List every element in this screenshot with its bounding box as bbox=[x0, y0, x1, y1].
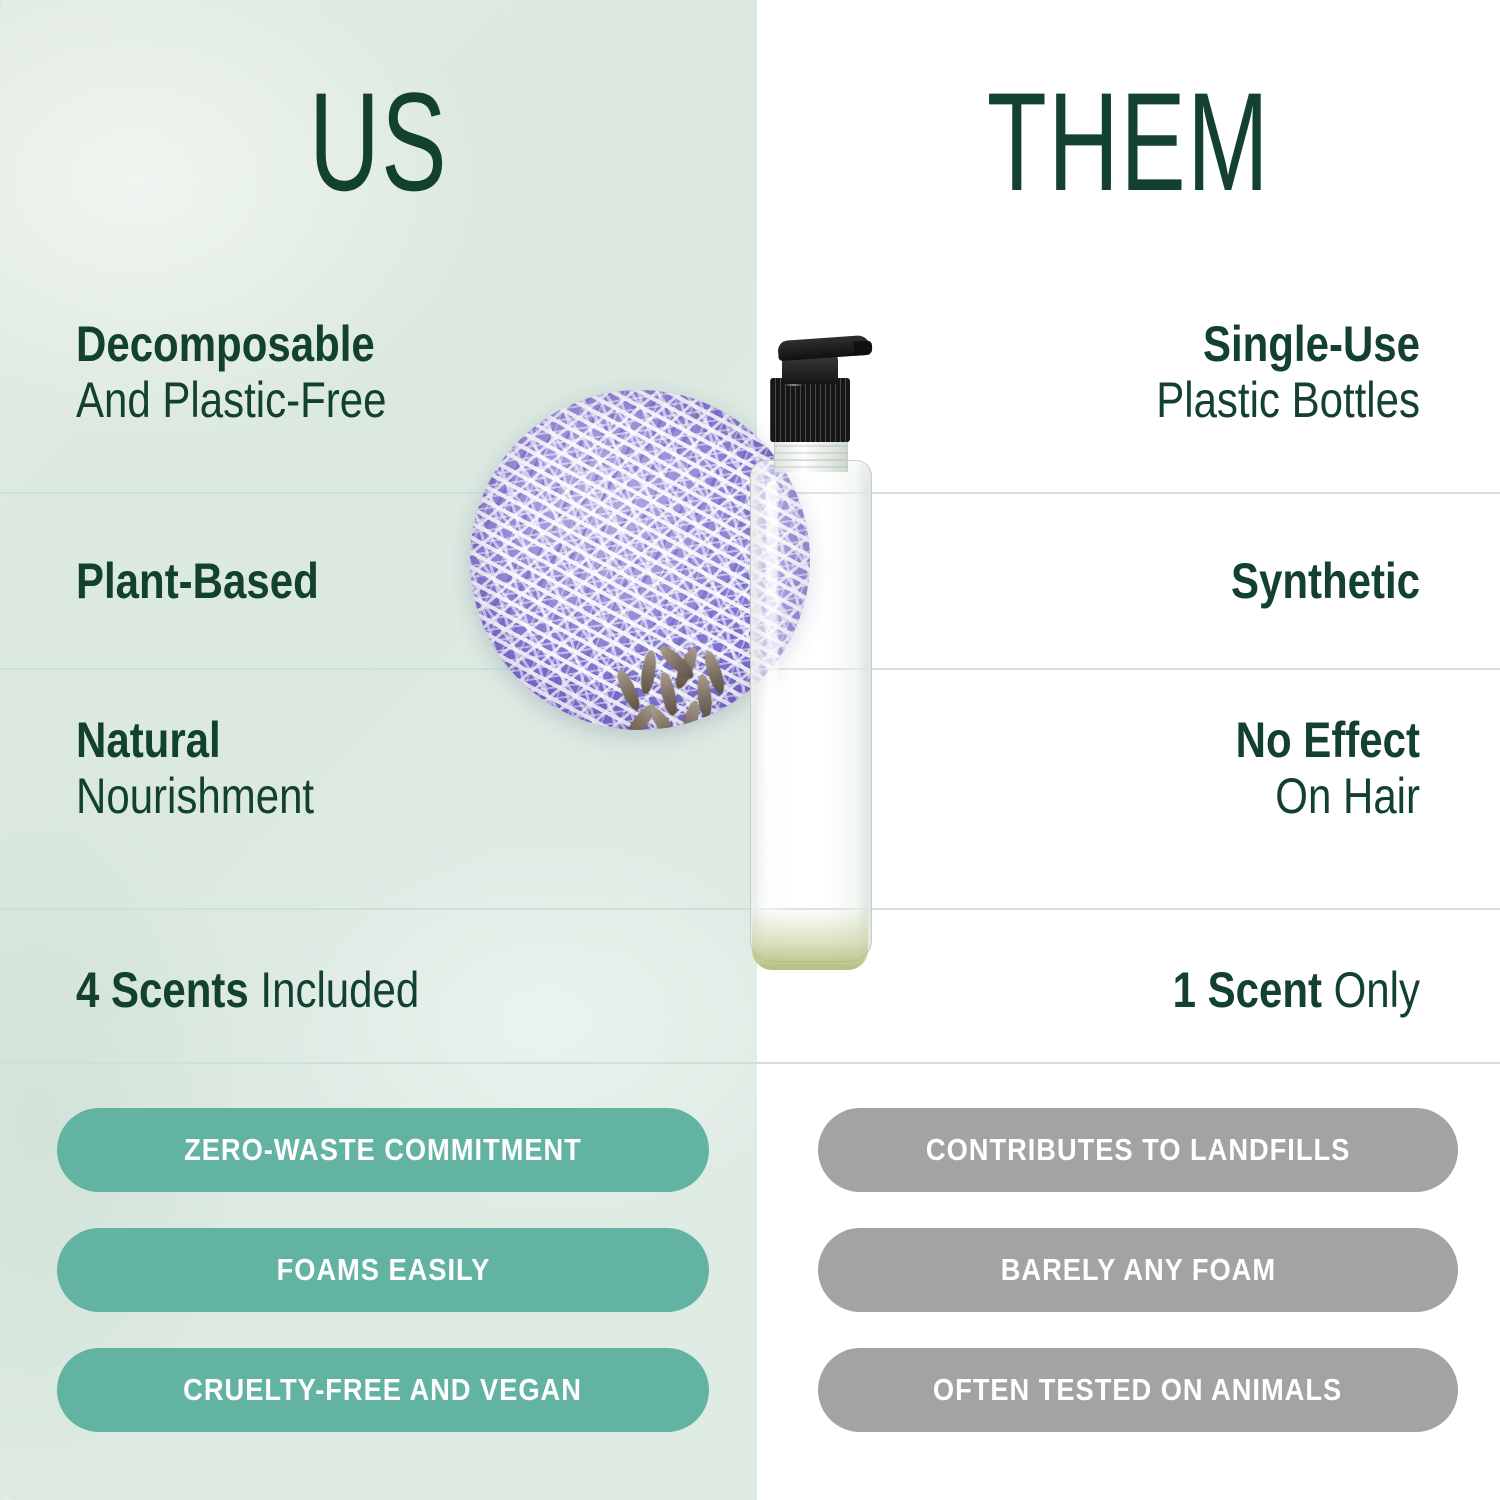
row-divider-4 bbox=[0, 1062, 1500, 1064]
us-feature-4: 4 Scents Included bbox=[76, 962, 597, 1018]
us-feature-2-primary: Plant-Based bbox=[76, 553, 597, 609]
them-pill-2[interactable]: Barely Any Foam bbox=[818, 1228, 1458, 1312]
them-feature-4-bold: 1 Scent bbox=[1173, 962, 1322, 1018]
them-pill-2-label: Barely Any Foam bbox=[1000, 1252, 1275, 1288]
them-feature-4-regular: Only bbox=[1322, 962, 1420, 1018]
them-feature-3: No Effect On Hair bbox=[908, 712, 1420, 825]
them-feature-1: Single-Use Plastic Bottles bbox=[908, 316, 1420, 429]
us-pill-1[interactable]: Zero-Waste Commitment bbox=[57, 1108, 709, 1192]
us-feature-3-primary: Natural bbox=[76, 712, 597, 768]
us-feature-3-secondary: Nourishment bbox=[76, 768, 597, 825]
them-feature-4: 1 Scent Only bbox=[908, 962, 1420, 1018]
us-pill-3-label: Cruelty-Free And Vegan bbox=[184, 1372, 583, 1408]
row-divider-2 bbox=[0, 668, 1500, 670]
us-feature-4-bold: 4 Scents bbox=[76, 962, 249, 1018]
us-pill-1-label: Zero-Waste Commitment bbox=[184, 1132, 582, 1168]
them-feature-3-primary: No Effect bbox=[908, 712, 1420, 768]
row-divider-3 bbox=[0, 908, 1500, 910]
us-feature-3: Natural Nourishment bbox=[76, 712, 597, 825]
them-pill-1[interactable]: Contributes To Landfills bbox=[818, 1108, 1458, 1192]
us-feature-2: Plant-Based bbox=[76, 553, 597, 609]
comparison-infographic: US THEM Decomposable And Plastic-Free Si… bbox=[0, 0, 1500, 1500]
us-pill-2-label: Foams Easily bbox=[276, 1252, 490, 1288]
us-feature-1-secondary: And Plastic-Free bbox=[76, 372, 597, 429]
them-pill-3-label: Often Tested On Animals bbox=[933, 1372, 1342, 1408]
us-feature-4-regular: Included bbox=[249, 962, 419, 1018]
us-column-heading: US bbox=[114, 72, 644, 212]
them-feature-2-primary: Synthetic bbox=[908, 553, 1420, 609]
us-feature-1: Decomposable And Plastic-Free bbox=[76, 316, 597, 429]
them-column-heading: THEM bbox=[868, 72, 1388, 212]
them-pill-1-label: Contributes To Landfills bbox=[926, 1132, 1350, 1168]
row-divider-1 bbox=[0, 492, 1500, 494]
them-pill-3[interactable]: Often Tested On Animals bbox=[818, 1348, 1458, 1432]
them-feature-1-primary: Single-Use bbox=[908, 316, 1420, 372]
them-feature-2: Synthetic bbox=[908, 553, 1420, 609]
them-feature-3-secondary: On Hair bbox=[908, 768, 1420, 825]
us-pill-2[interactable]: Foams Easily bbox=[57, 1228, 709, 1312]
them-feature-1-secondary: Plastic Bottles bbox=[908, 372, 1420, 429]
us-feature-1-primary: Decomposable bbox=[76, 316, 597, 372]
us-pill-3[interactable]: Cruelty-Free And Vegan bbox=[57, 1348, 709, 1432]
